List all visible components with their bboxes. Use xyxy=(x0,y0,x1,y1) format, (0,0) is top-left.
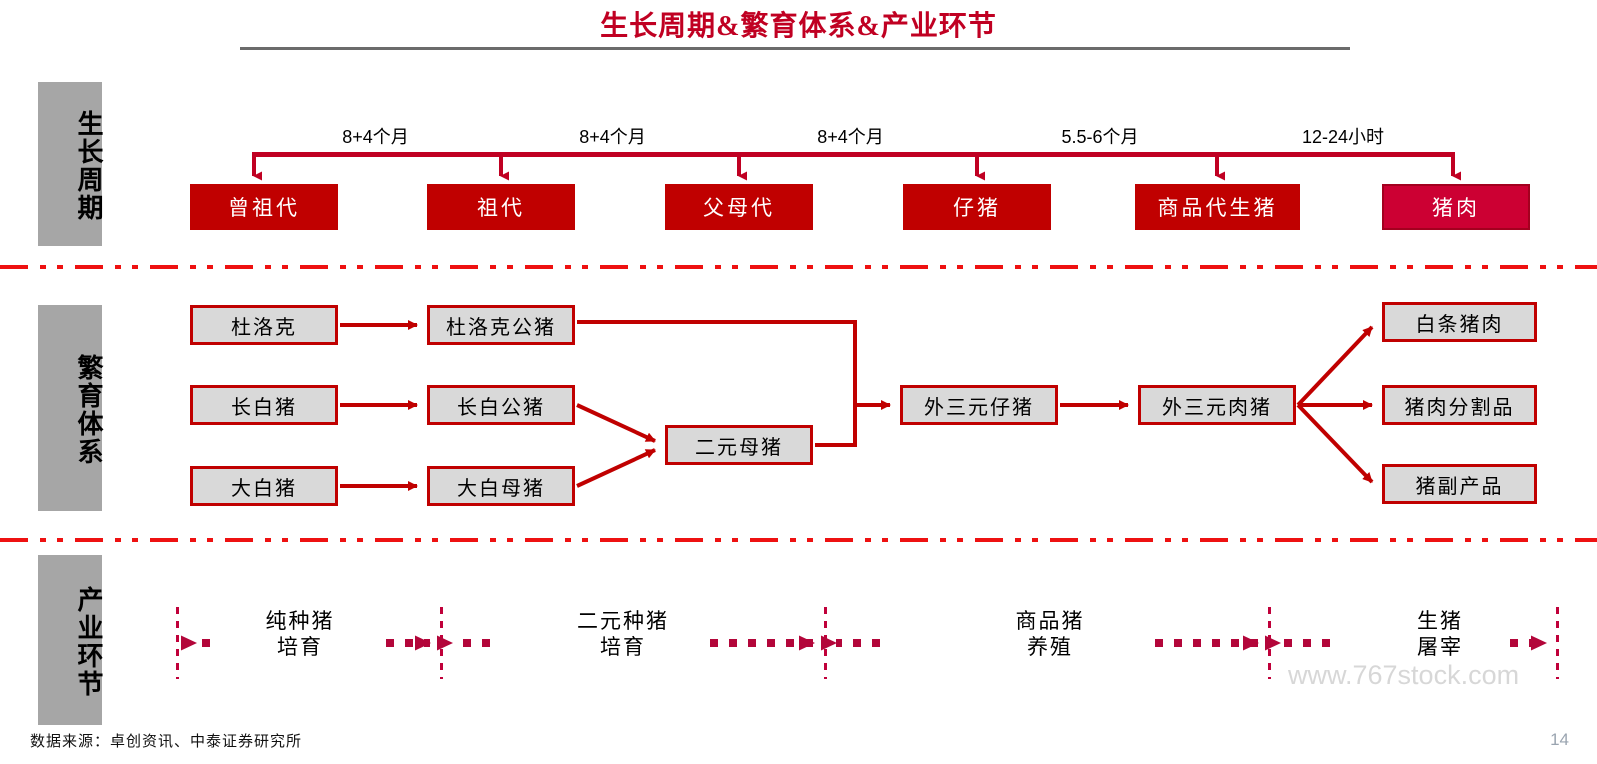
generation-box-commercial-hog[interactable]: 商品代生猪 xyxy=(1135,184,1300,230)
generation-box-piglet[interactable]: 仔猪 xyxy=(903,184,1051,230)
stage-label-commercial-farming: 商品猪 养殖 xyxy=(960,608,1140,661)
duration-label-5: 12-24小时 xyxy=(1243,123,1443,149)
breeding-box-three-way-piglet[interactable]: 外三元仔猪 xyxy=(900,385,1058,425)
stage-boundary-tick-4 xyxy=(1268,607,1271,679)
section-divider-2 xyxy=(0,538,1597,542)
breeding-arrows-hog-to-products xyxy=(1298,327,1372,482)
breeding-box-white-pork[interactable]: 白条猪肉 xyxy=(1382,302,1537,342)
growth-timeline-bar xyxy=(252,152,1455,157)
generation-box-pork[interactable]: 猪肉 xyxy=(1382,184,1530,230)
duration-label-4: 5.5-6个月 xyxy=(1000,123,1200,149)
breeding-box-landrace[interactable]: 长白猪 xyxy=(190,385,338,425)
stage-label-line1: 商品猪 xyxy=(960,608,1140,634)
breeding-box-duroc-boar[interactable]: 杜洛克公猪 xyxy=(427,305,575,345)
side-label-breeding-system: 繁育体系 xyxy=(38,305,102,511)
breeding-box-duroc[interactable]: 杜洛克 xyxy=(190,305,338,345)
stage-boundary-tick-3 xyxy=(824,607,827,679)
stage-label-line1: 纯种猪 xyxy=(215,608,385,634)
breeding-arrows-stage1 xyxy=(340,325,417,486)
watermark-text: www.767stock.com xyxy=(1288,660,1519,691)
duration-label-1: 8+4个月 xyxy=(283,123,468,149)
breeding-box-landrace-boar[interactable]: 长白公猪 xyxy=(427,385,575,425)
stage-boundary-tick-1 xyxy=(176,607,179,679)
breeding-box-binary-sow[interactable]: 二元母猪 xyxy=(665,425,813,465)
generation-box-great-grandparent[interactable]: 曾祖代 xyxy=(190,184,338,230)
stage-boundary-tick-2 xyxy=(440,607,443,679)
stage-label-line2: 培育 xyxy=(528,634,718,660)
breeding-box-byproduct[interactable]: 猪副产品 xyxy=(1382,464,1537,504)
breeding-box-yorkshire[interactable]: 大白猪 xyxy=(190,466,338,506)
page-title: 生长周期&繁育体系&产业环节 xyxy=(0,4,1597,44)
stage-label-line2: 养殖 xyxy=(960,634,1140,660)
slide-canvas: 生长周期&繁育体系&产业环节 生长周期 8+4个月 8+4个月 8+4个月 5.… xyxy=(0,0,1597,764)
source-note: 数据来源：卓创资讯、中泰证券研究所 xyxy=(30,730,302,751)
side-label-growth-cycle: 生长周期 xyxy=(38,82,102,246)
stage-label-purebred-breeding: 纯种猪 培育 xyxy=(215,608,385,661)
page-number: 14 xyxy=(1550,730,1569,750)
side-label-industry-stage: 产业环节 xyxy=(38,555,102,725)
breeding-box-cut-pork[interactable]: 猪肉分割品 xyxy=(1382,385,1537,425)
duration-label-3: 8+4个月 xyxy=(758,123,943,149)
stage-label-line1: 二元种猪 xyxy=(528,608,718,634)
stage-label-line1: 生猪 xyxy=(1360,608,1520,634)
breeding-arrows-converge-binary-sow xyxy=(577,405,655,486)
generation-box-parent[interactable]: 父母代 xyxy=(665,184,813,230)
stage-label-line2: 屠宰 xyxy=(1360,634,1520,660)
stage-label-line2: 培育 xyxy=(215,634,385,660)
section-divider-1 xyxy=(0,265,1597,269)
stage-label-slaughter: 生猪 屠宰 xyxy=(1360,608,1520,661)
stage-label-binary-breeding: 二元种猪 培育 xyxy=(528,608,718,661)
breeding-box-three-way-hog[interactable]: 外三元肉猪 xyxy=(1138,385,1296,425)
timeline-drop-arrows xyxy=(254,155,1453,176)
stage-boundary-tick-5 xyxy=(1556,607,1559,679)
generation-box-grandparent[interactable]: 祖代 xyxy=(427,184,575,230)
title-underline xyxy=(240,47,1350,50)
breeding-box-yorkshire-sow[interactable]: 大白母猪 xyxy=(427,466,575,506)
duration-label-2: 8+4个月 xyxy=(520,123,705,149)
